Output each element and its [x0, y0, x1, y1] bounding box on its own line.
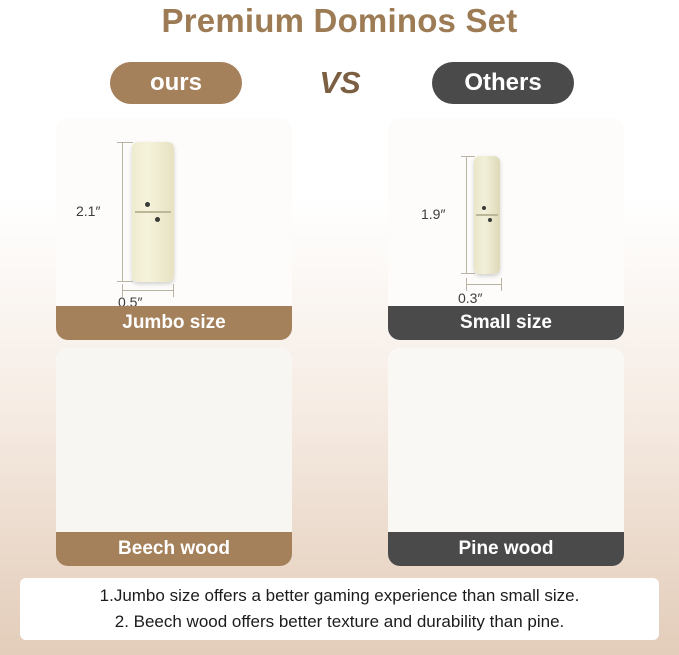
others-size-illustration: 1.9″ 0.3″ — [388, 118, 624, 306]
domino-pip — [155, 217, 160, 222]
domino-divider-line — [476, 214, 498, 216]
ours-width-guide-line — [122, 290, 174, 291]
others-width-cap-right — [501, 278, 502, 291]
others-badge: Others — [432, 62, 574, 104]
others-height-cap-bottom — [461, 273, 475, 274]
others-size-label: Small size — [388, 306, 624, 340]
others-width-guide-line — [466, 284, 502, 285]
ours-width-cap-right — [173, 284, 174, 297]
ours-size-label: Jumbo size — [56, 306, 292, 340]
ours-height-guide-line — [122, 142, 123, 282]
domino-divider-line — [135, 211, 170, 213]
others-height-measure-text: 1.9″ — [421, 206, 445, 222]
footer-note-1: 1.Jumbo size offers a better gaming expe… — [100, 583, 580, 609]
ours-wood-label: Beech wood — [56, 532, 292, 566]
page-title: Premium Dominos Set — [0, 2, 679, 40]
comparison-header: ours VS Others — [0, 62, 679, 110]
footer-note-2: 2. Beech wood offers better texture and … — [115, 609, 565, 635]
domino-pip — [488, 218, 492, 222]
others-height-cap-top — [461, 156, 475, 157]
ours-wood-photo-background — [56, 348, 292, 532]
others-size-card: 1.9″ 0.3″ Small size — [388, 118, 624, 340]
footer-notes: 1.Jumbo size offers a better gaming expe… — [20, 578, 659, 640]
others-domino-tile-icon — [474, 156, 500, 274]
others-height-guide-line — [466, 156, 467, 274]
vs-label: VS — [296, 65, 384, 101]
ours-badge: ours — [110, 62, 242, 104]
others-wood-photo-background — [388, 348, 624, 532]
ours-height-cap-bottom — [117, 281, 133, 282]
ours-wood-card: Beech wood — [56, 348, 292, 566]
domino-pip — [482, 206, 486, 210]
others-wood-illustration — [388, 348, 624, 532]
ours-size-card: 2.1″ 0.5″ Jumbo size — [56, 118, 292, 340]
ours-height-cap-top — [117, 142, 133, 143]
others-wood-card: Pine wood — [388, 348, 624, 566]
domino-pip — [145, 202, 150, 207]
others-width-measure-text: 0.3″ — [458, 290, 482, 306]
others-wood-label: Pine wood — [388, 532, 624, 566]
ours-size-illustration: 2.1″ 0.5″ — [56, 118, 292, 306]
ours-wood-illustration — [56, 348, 292, 532]
ours-domino-tile-icon — [132, 142, 174, 282]
ours-height-measure-text: 2.1″ — [76, 203, 100, 219]
